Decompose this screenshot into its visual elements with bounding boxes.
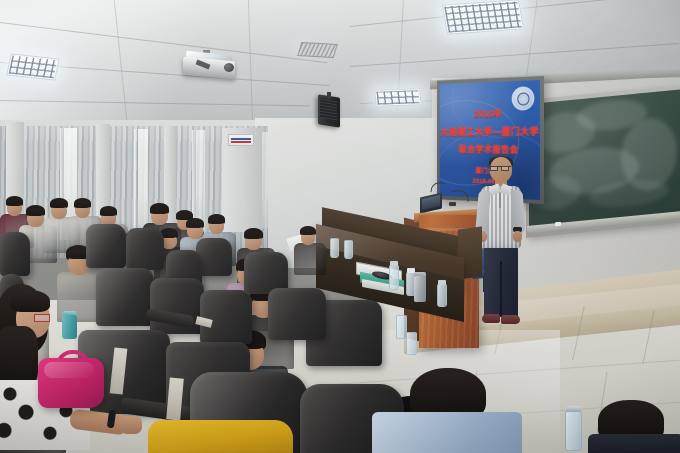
hair-front xyxy=(10,290,50,312)
hand xyxy=(120,416,142,434)
bottle-cap xyxy=(438,280,446,285)
hair-front xyxy=(300,229,315,235)
speaker-bracket xyxy=(327,92,331,99)
presenter-shoe-right xyxy=(501,315,520,324)
audience-member-foreground-right xyxy=(380,370,540,453)
lecture-hall-photo: 2016年 大连理工大学—厦门大学 联合学术报告会 厦门大学 2016.08.2… xyxy=(0,0,680,453)
chalkboard xyxy=(529,89,680,230)
slide-line-event: 联合学术报告会 xyxy=(459,143,519,156)
teal-water-bottle xyxy=(62,315,77,339)
pink-handbag-highlight xyxy=(44,362,94,378)
presenter-hand-right xyxy=(513,231,522,242)
wall-notice-sign xyxy=(228,134,254,146)
auditorium-seat xyxy=(200,290,252,344)
sign-bar-blue xyxy=(231,138,251,140)
water-bottle xyxy=(344,240,353,259)
auditorium-seat xyxy=(0,232,30,276)
chalk-piece xyxy=(555,222,561,227)
hair-front xyxy=(50,201,67,208)
torso xyxy=(294,243,326,275)
water-bottle xyxy=(389,265,399,290)
auditorium-seat xyxy=(126,228,164,270)
bottle-cap xyxy=(390,261,398,266)
microphone-base xyxy=(449,202,456,206)
slide-line-year: 2016年 xyxy=(474,107,502,120)
hair-front xyxy=(74,201,90,208)
speaker-grille xyxy=(320,98,337,121)
presenter-shoe-left xyxy=(482,314,500,323)
light-blue-shirt xyxy=(372,412,522,453)
auditorium-seat xyxy=(268,288,326,340)
audience-member xyxy=(300,226,342,277)
ceiling-light-2 xyxy=(442,0,524,35)
eyeglass-lens-left xyxy=(490,166,498,171)
projector-lens-icon xyxy=(224,63,234,72)
air-vent xyxy=(297,42,338,58)
presenter-leg-seam xyxy=(500,261,502,317)
auditorium-seat xyxy=(150,278,204,334)
slide-line-universities: 大连理工大学—厦门大学 xyxy=(441,124,540,138)
stainless-thermos xyxy=(414,276,426,302)
hair-front xyxy=(244,231,262,239)
hair-front xyxy=(100,209,116,216)
ceiling-light-3 xyxy=(374,88,422,107)
hair-front xyxy=(150,206,168,214)
hair-front xyxy=(26,208,44,216)
audience-member-far-right xyxy=(588,400,680,453)
hair-front xyxy=(208,217,224,224)
hair-front xyxy=(186,221,203,228)
lectern-water-bottle xyxy=(406,332,417,355)
eyeglasses-icon xyxy=(34,314,50,322)
yellow-tote-bag xyxy=(148,420,293,453)
floor-water-bottle xyxy=(565,411,582,451)
hair-front xyxy=(6,199,22,206)
torso xyxy=(588,434,680,453)
eyeglass-lens-right xyxy=(501,166,509,171)
water-bottle xyxy=(437,284,447,307)
seat-highlight xyxy=(86,224,126,268)
sign-bar-red xyxy=(231,141,251,143)
